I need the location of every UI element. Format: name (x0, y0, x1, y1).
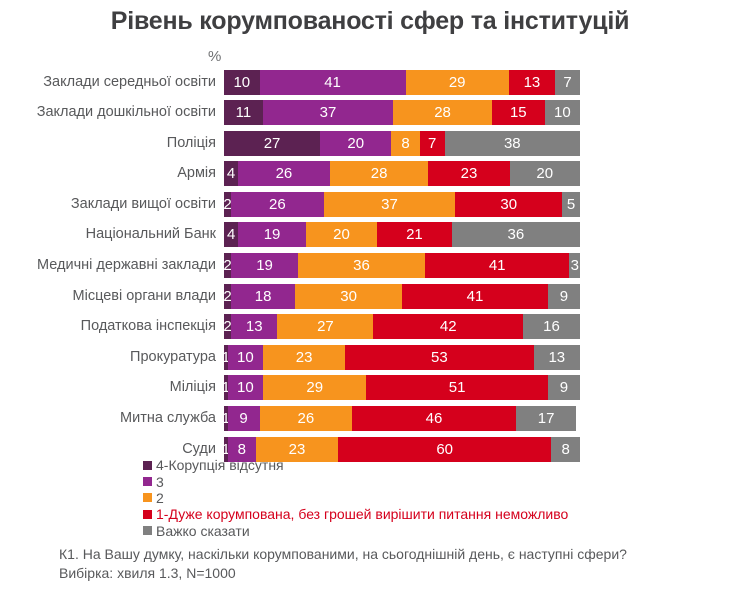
bar-segment: 30 (295, 284, 402, 309)
chart-row: Поліція27208738 (0, 129, 740, 157)
bar-segment: 41 (402, 284, 548, 309)
bar-segment-value: 26 (298, 410, 315, 427)
bar-segment-value: 36 (353, 257, 370, 274)
bar-segment: 7 (420, 131, 445, 156)
category-label: Місцеві органи влади (0, 288, 224, 305)
bar-segment-value: 10 (233, 74, 250, 91)
bar-segment-value: 10 (237, 379, 254, 396)
bar-segment-value: 37 (381, 196, 398, 213)
axis-unit-label: % (208, 48, 221, 65)
bar-segment: 23 (263, 345, 345, 370)
stacked-bar-chart-plot: Заклади середньої освіти104129137Заклади… (0, 68, 740, 466)
chart-row: Прокуратура110235313 (0, 343, 740, 371)
bar-segment-value: 11 (236, 104, 252, 121)
bar-segment-value: 38 (504, 135, 521, 152)
bar-segment-value: 27 (317, 318, 334, 335)
bar-segment: 10 (228, 345, 264, 370)
bar-segment: 36 (452, 222, 580, 247)
bar-segment-value: 36 (508, 226, 525, 243)
bar-segment-value: 37 (320, 104, 337, 121)
category-label: Суди (0, 441, 224, 458)
bar-segment-value: 5 (567, 196, 575, 213)
category-label: Національний Банк (0, 226, 224, 243)
bar-segment: 41 (425, 253, 570, 278)
legend-swatch-icon (143, 477, 152, 486)
bar-segment-value: 21 (406, 226, 423, 243)
legend-label: 4-Корупція відсутня (156, 457, 284, 473)
bar-segment: 28 (330, 161, 429, 186)
bar-segment-value: 28 (434, 104, 451, 121)
bar-segment-value: 16 (543, 318, 560, 335)
bar-segment: 2 (224, 314, 231, 339)
footnote-line-2: Вибірка: хвиля 1.3, N=1000 (59, 564, 627, 583)
bar-segment-value: 19 (256, 257, 273, 274)
bar-segment-value: 60 (436, 441, 453, 458)
bar-segment-value: 8 (238, 441, 246, 458)
stacked-bar: 21936413 (224, 253, 580, 278)
stacked-bar: 1137281510 (224, 100, 580, 125)
stacked-bar: 19264617 (224, 406, 580, 431)
bar-segment-value: 2 (224, 288, 231, 305)
bar-segment: 17 (516, 406, 577, 431)
legend-item[interactable]: 1-Дуже корумпована, без грошей вирішити … (143, 506, 568, 522)
bar-segment-value: 13 (548, 349, 565, 366)
category-label: Заклади вищої освіти (0, 196, 224, 213)
bar-segment-value: 2 (224, 196, 231, 213)
bar-segment-value: 9 (560, 288, 568, 305)
chart-row: Митна служба19264617 (0, 405, 740, 433)
category-label: Податкова інспекція (0, 318, 224, 335)
bar-segment-value: 10 (554, 104, 571, 121)
bar-segment-value: 29 (306, 379, 323, 396)
bar-segment-value: 53 (431, 349, 448, 366)
legend-swatch-icon (143, 461, 152, 470)
legend-swatch-icon (143, 510, 152, 519)
bar-segment: 29 (263, 375, 366, 400)
category-label: Прокуратура (0, 349, 224, 366)
bar-segment: 10 (228, 375, 264, 400)
bar-segment-value: 41 (467, 288, 484, 305)
stacked-bar: 104129137 (224, 70, 580, 95)
bar-segment-value: 7 (563, 74, 571, 91)
bar-segment: 36 (298, 253, 425, 278)
bar-segment: 20 (510, 161, 580, 186)
bar-segment-value: 9 (239, 410, 247, 427)
bar-segment: 41 (260, 70, 406, 95)
bar-segment-value: 23 (289, 441, 306, 458)
chart-row: Заклади середньої освіти104129137 (0, 68, 740, 96)
legend-swatch-icon (143, 493, 152, 502)
bar-segment: 18 (231, 284, 295, 309)
stacked-bar: 419202136 (224, 222, 580, 247)
bar-segment-value: 19 (264, 226, 281, 243)
bar-segment: 8 (391, 131, 419, 156)
bar-segment: 13 (534, 345, 580, 370)
bar-segment-value: 9 (560, 379, 568, 396)
legend-label: 2 (156, 490, 164, 506)
bar-segment-value: 8 (401, 135, 409, 152)
chart-row: Національний Банк419202136 (0, 221, 740, 249)
bar-segment: 13 (509, 70, 555, 95)
bar-segment: 7 (555, 70, 580, 95)
bar-segment: 26 (231, 192, 324, 217)
legend-label: Важко сказати (156, 523, 250, 539)
bar-segment: 4 (224, 161, 238, 186)
bar-segment-value: 8 (562, 441, 570, 458)
chart-row: Медичні державні заклади21936413 (0, 252, 740, 280)
bar-segment-value: 46 (426, 410, 443, 427)
bar-segment: 21 (377, 222, 452, 247)
bar-segment: 51 (366, 375, 548, 400)
bar-segment-value: 18 (255, 288, 272, 305)
legend-item[interactable]: Важко сказати (143, 523, 568, 539)
bar-segment-value: 26 (276, 165, 293, 182)
stacked-bar: 27208738 (224, 131, 580, 156)
bar-segment: 15 (492, 100, 545, 125)
bar-segment-value: 20 (333, 226, 350, 243)
bar-segment: 11 (224, 100, 263, 125)
legend-item[interactable]: 2 (143, 490, 568, 506)
category-label: Митна служба (0, 410, 224, 427)
bar-segment: 20 (320, 131, 391, 156)
bar-segment: 2 (224, 284, 231, 309)
page-title: Рівень корумпованості сфер та інституцій (0, 0, 740, 36)
legend-swatch-icon (143, 526, 152, 535)
stacked-bar: 213274216 (224, 314, 580, 339)
bar-segment-value: 10 (237, 349, 254, 366)
chart-row: Заклади вищої освіти22637305 (0, 190, 740, 218)
legend-item[interactable]: 3 (143, 473, 568, 489)
bar-segment-value: 20 (347, 135, 364, 152)
bar-segment-value: 4 (227, 226, 235, 243)
bar-segment: 2 (224, 253, 231, 278)
bar-segment: 26 (260, 406, 353, 431)
bar-segment-value: 23 (461, 165, 478, 182)
bar-segment-value: 29 (449, 74, 466, 91)
chart-row: Армія426282320 (0, 160, 740, 188)
bar-segment: 20 (306, 222, 377, 247)
chart-legend: 4-Корупція відсутня321-Дуже корумпована,… (143, 457, 568, 539)
bar-segment: 19 (238, 222, 306, 247)
chart-row: Міліція11029519 (0, 374, 740, 402)
bar-segment-value: 2 (224, 257, 231, 274)
bar-segment: 5 (562, 192, 580, 217)
stacked-bar: 11029519 (224, 375, 580, 400)
bar-segment: 10 (545, 100, 580, 125)
bar-segment-value: 27 (264, 135, 281, 152)
bar-segment: 19 (231, 253, 298, 278)
bar-segment: 28 (393, 100, 492, 125)
bar-segment-value: 7 (428, 135, 436, 152)
bar-segment-value: 26 (269, 196, 286, 213)
bar-segment: 16 (523, 314, 580, 339)
stacked-bar: 426282320 (224, 161, 580, 186)
category-label: Армія (0, 165, 224, 182)
bar-segment-value: 4 (227, 165, 235, 182)
bar-segment-value: 23 (296, 349, 313, 366)
bar-segment-value: 41 (324, 74, 341, 91)
category-label: Заклади дошкільної освіти (0, 104, 224, 121)
bar-segment: 3 (569, 253, 580, 278)
bar-segment: 26 (238, 161, 330, 186)
bar-segment-value: 13 (246, 318, 263, 335)
bar-segment: 27 (224, 131, 320, 156)
stacked-bar: 22637305 (224, 192, 580, 217)
bar-segment: 37 (324, 192, 456, 217)
bar-segment-value: 51 (449, 379, 466, 396)
bar-segment-value: 30 (340, 288, 357, 305)
bar-segment: 4 (224, 222, 238, 247)
bar-segment-value: 15 (510, 104, 527, 121)
bar-segment: 38 (445, 131, 580, 156)
chart-row: Місцеві органи влади21830419 (0, 282, 740, 310)
bar-segment-value: 30 (500, 196, 517, 213)
bar-segment-value: 42 (440, 318, 457, 335)
category-label: Медичні державні заклади (0, 257, 224, 274)
bar-segment: 23 (428, 161, 509, 186)
stacked-bar: 110235313 (224, 345, 580, 370)
stacked-bar: 21830419 (224, 284, 580, 309)
bar-segment-value: 13 (524, 74, 541, 91)
bar-segment: 42 (373, 314, 523, 339)
bar-segment: 53 (345, 345, 534, 370)
bar-segment-value: 3 (571, 257, 579, 274)
bar-segment: 13 (231, 314, 277, 339)
bar-segment: 9 (228, 406, 260, 431)
bar-segment: 9 (548, 375, 580, 400)
legend-label: 1-Дуже корумпована, без грошей вирішити … (156, 506, 568, 522)
bar-segment-value: 2 (224, 318, 231, 335)
category-label: Заклади середньої освіти (0, 74, 224, 91)
legend-item[interactable]: 4-Корупція відсутня (143, 457, 568, 473)
bar-segment: 2 (224, 192, 231, 217)
legend-label: 3 (156, 474, 164, 490)
bar-segment-value: 41 (489, 257, 506, 274)
bar-segment: 29 (406, 70, 509, 95)
bar-segment-value: 20 (536, 165, 553, 182)
category-label: Поліція (0, 135, 224, 152)
chart-footnote: К1. На Вашу думку, наскільки корумповани… (59, 545, 627, 583)
category-label: Міліція (0, 379, 224, 396)
bar-segment-value: 17 (538, 410, 555, 427)
bar-segment: 27 (277, 314, 373, 339)
bar-segment: 9 (548, 284, 580, 309)
footnote-line-1: К1. На Вашу думку, наскільки корумповани… (59, 545, 627, 564)
bar-segment: 37 (263, 100, 393, 125)
bar-segment-value: 28 (371, 165, 388, 182)
chart-row: Податкова інспекція213274216 (0, 313, 740, 341)
chart-row: Заклади дошкільної освіти1137281510 (0, 99, 740, 127)
bar-segment: 46 (352, 406, 516, 431)
bar-segment: 10 (224, 70, 260, 95)
bar-segment: 30 (455, 192, 562, 217)
